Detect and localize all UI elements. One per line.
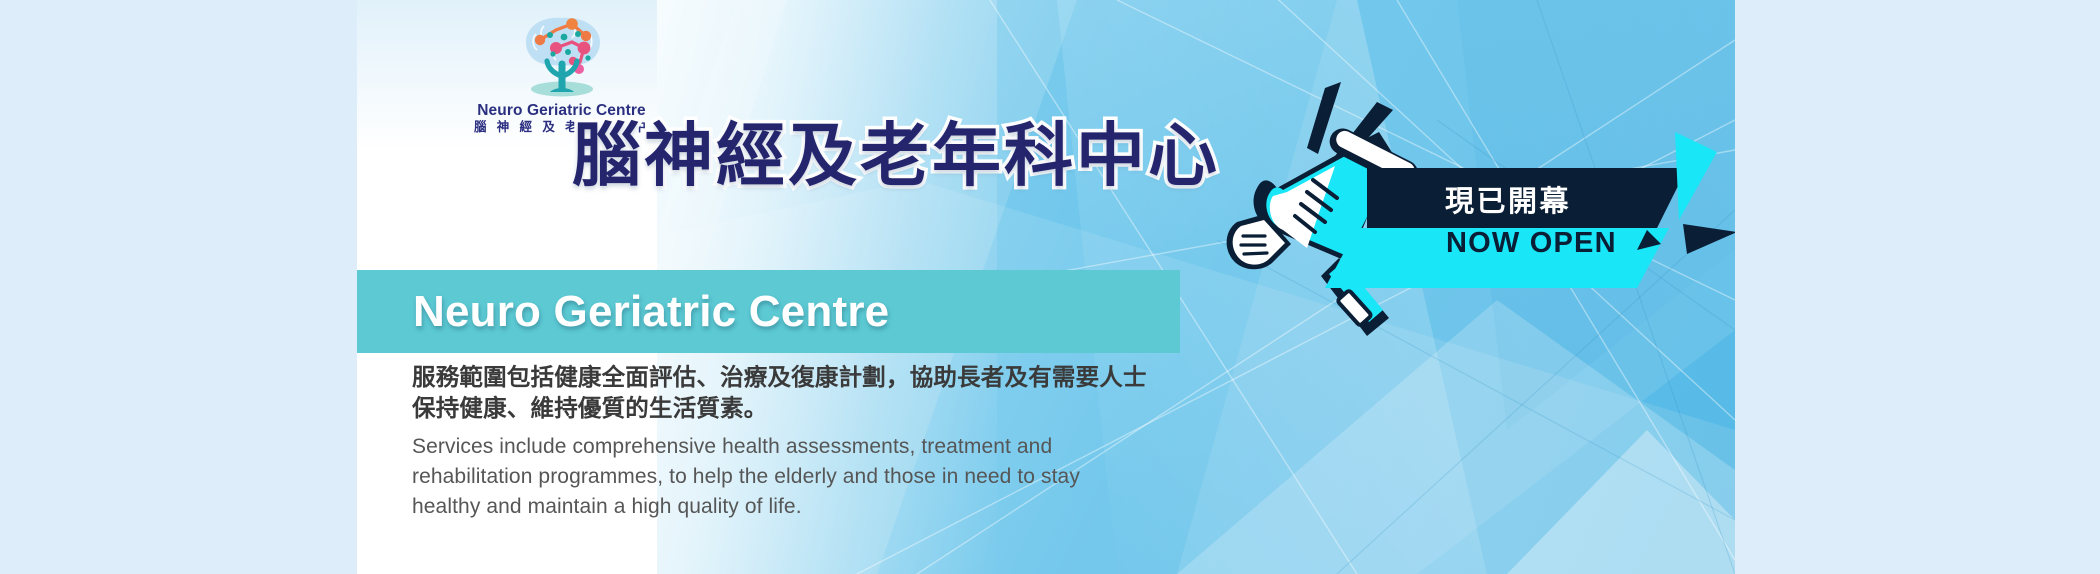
subtitle-strap: Neuro Geriatric Centre bbox=[357, 270, 1180, 353]
left-padding-area bbox=[0, 0, 357, 574]
now-open-announcement: 現已開幕 NOW OPEN bbox=[1217, 80, 1735, 370]
description-block: 服務範圍包括健康全面評估、治療及復康計劃，協助長者及有需要人士保持健康、維持優質… bbox=[412, 362, 1152, 522]
description-zh: 服務範圍包括健康全面評估、治療及復康計劃，協助長者及有需要人士保持健康、維持優質… bbox=[412, 362, 1152, 423]
announcement-graphic bbox=[1217, 80, 1735, 370]
announcement-label-en: NOW OPEN bbox=[1446, 227, 1617, 260]
right-padding-area bbox=[1735, 0, 2100, 574]
description-en: Services include comprehensive health as… bbox=[412, 432, 1152, 521]
brain-tree-icon bbox=[510, 4, 614, 100]
brand-logo: Neuro Geriatric Centre 腦 神 經 及 老 年 科 中 心 bbox=[474, 4, 649, 135]
announcement-label-zh: 現已開幕 bbox=[1445, 178, 1571, 220]
page-title: 腦神經及老年科中心 bbox=[357, 121, 1220, 190]
promo-banner: Neuro Geriatric Centre 腦 神 經 及 老 年 科 中 心… bbox=[357, 0, 1735, 574]
subtitle-text: Neuro Geriatric Centre bbox=[413, 287, 889, 337]
banner-stage: Neuro Geriatric Centre 腦 神 經 及 老 年 科 中 心… bbox=[0, 0, 2100, 574]
